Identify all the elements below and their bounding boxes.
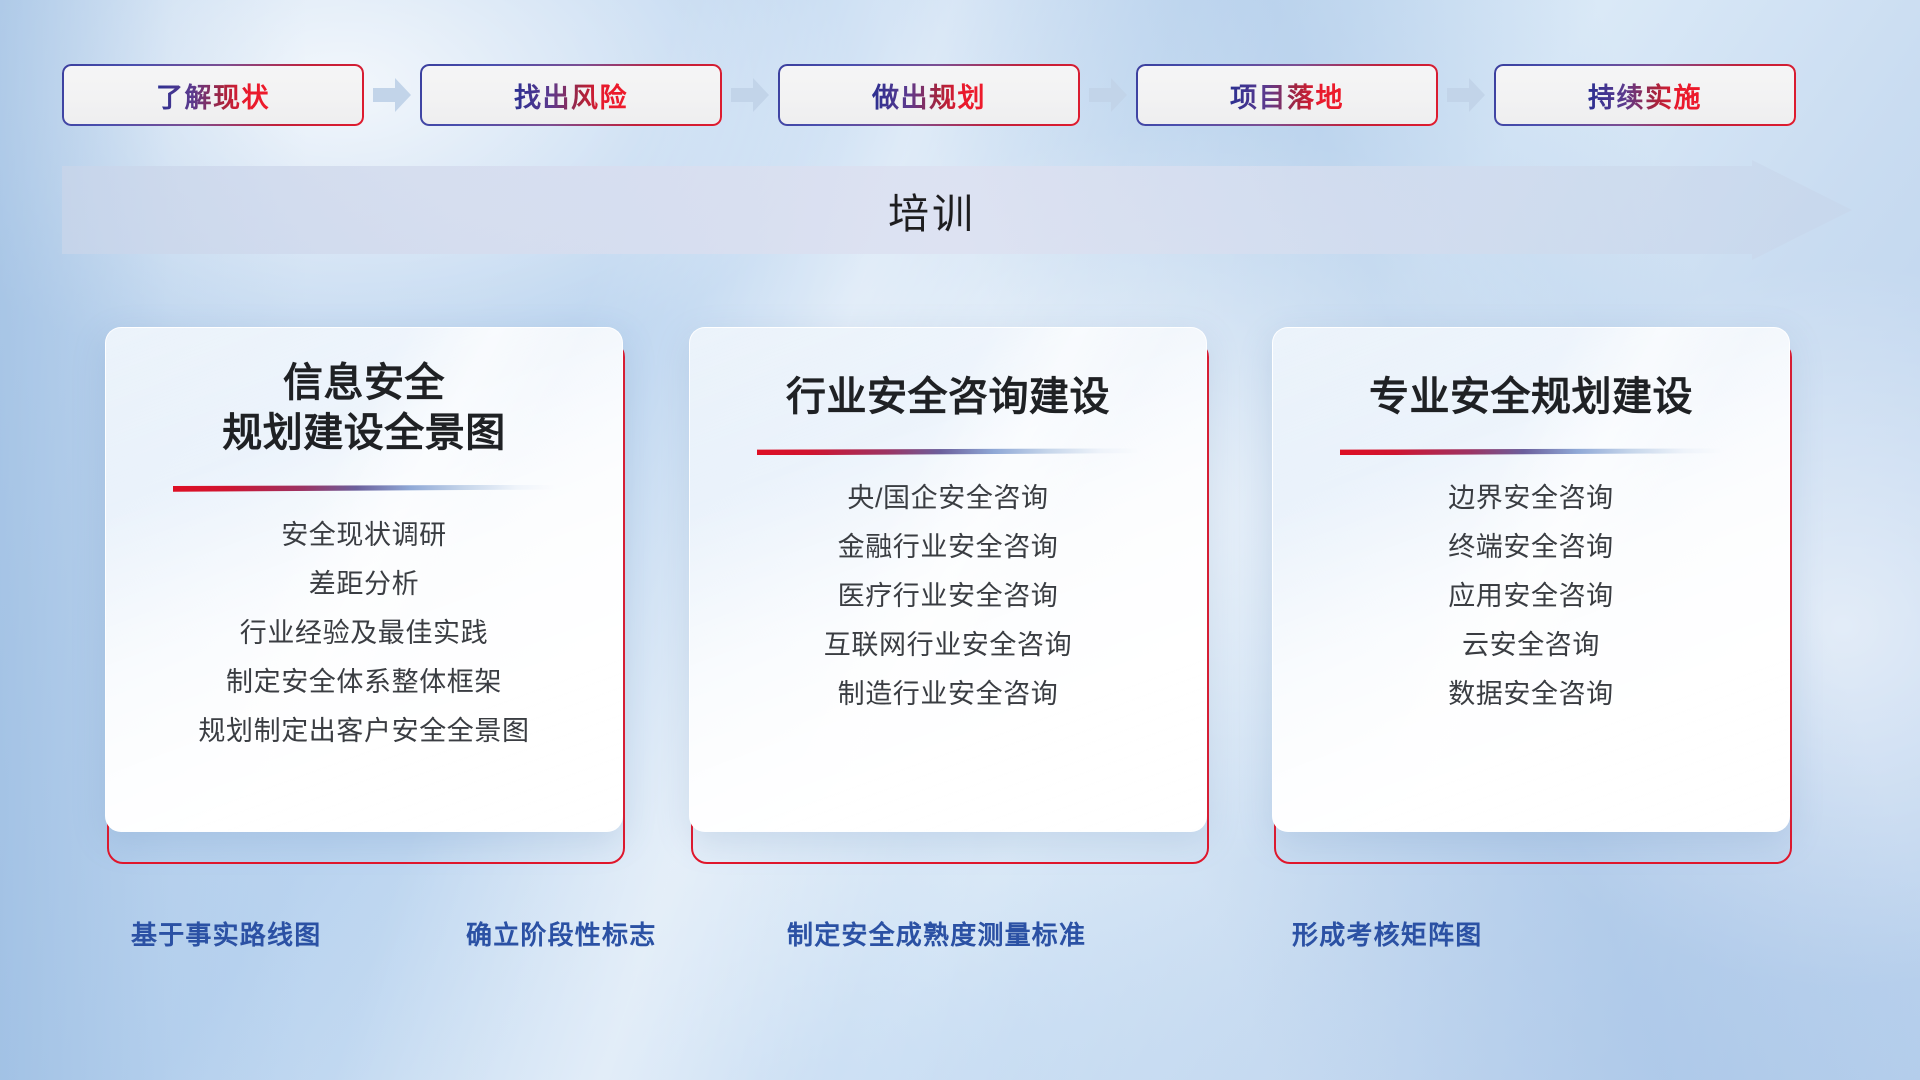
right-arrow-icon [1447, 78, 1485, 112]
list-item: 数据安全咨询 [1448, 681, 1614, 708]
footer-tag-4: 形成考核矩阵图 [1292, 915, 1482, 952]
feature-card-1[interactable]: 信息安全 规划建设全景图 安全现状调研 差距分析 行业经验及最佳实践 制定安全体… [105, 327, 635, 872]
step-box-5[interactable]: 持续实施 [1494, 64, 1796, 126]
list-item: 制造行业安全咨询 [838, 681, 1059, 708]
card-title-line: 信息安全 [134, 358, 594, 408]
list-item: 安全现状调研 [281, 522, 447, 549]
right-arrow-icon [1089, 78, 1127, 112]
card-item-list: 安全现状调研 差距分析 行业经验及最佳实践 制定安全体系整体框架 规划制定出客户… [106, 522, 622, 767]
process-step-row: 了解现状 找出风险 做出规划 项目落地 持续实施 [62, 63, 1862, 127]
slide-stage: 了解现状 找出风险 做出规划 项目落地 持续实施 [0, 0, 1920, 1080]
footer-tag-1: 基于事实路线图 [131, 915, 321, 952]
list-item: 差距分析 [309, 571, 419, 598]
step-label-3: 做出规划 [872, 76, 986, 115]
list-item: 云安全咨询 [1462, 632, 1600, 659]
card-title: 信息安全 规划建设全景图 [134, 358, 594, 459]
step-label-2: 找出风险 [514, 76, 628, 115]
list-item: 行业经验及最佳实践 [240, 620, 488, 647]
list-item: 边界安全咨询 [1448, 485, 1614, 512]
card-item-list: 边界安全咨询 终端安全咨询 应用安全咨询 云安全咨询 数据安全咨询 [1273, 485, 1789, 730]
step-box-3[interactable]: 做出规划 [778, 64, 1080, 126]
list-item: 互联网行业安全咨询 [824, 632, 1072, 659]
step-box-4[interactable]: 项目落地 [1136, 64, 1438, 126]
training-banner-label: 培训 [62, 160, 1802, 260]
card-title: 行业安全咨询建设 [718, 372, 1178, 422]
step-box-1[interactable]: 了解现状 [62, 64, 364, 126]
card-title-line: 规划建设全景图 [134, 408, 594, 458]
card-divider [757, 448, 1139, 455]
card-body[interactable]: 信息安全 规划建设全景图 安全现状调研 差距分析 行业经验及最佳实践 制定安全体… [105, 327, 623, 832]
step-box-2[interactable]: 找出风险 [420, 64, 722, 126]
list-item: 央/国企安全咨询 [847, 485, 1048, 512]
feature-card-3[interactable]: 专业安全规划建设 边界安全咨询 终端安全咨询 应用安全咨询 云安全咨询 数据安全… [1272, 327, 1802, 872]
step-label-5: 持续实施 [1588, 76, 1702, 115]
list-item: 规划制定出客户安全全景图 [198, 718, 529, 745]
footer-tag-2: 确立阶段性标志 [466, 915, 656, 952]
list-item: 终端安全咨询 [1448, 534, 1614, 561]
card-divider [1340, 448, 1722, 455]
list-item: 制定安全体系整体框架 [226, 669, 502, 696]
footer-tag-3: 制定安全成熟度测量标准 [787, 915, 1086, 952]
card-title-line: 专业安全规划建设 [1301, 372, 1761, 422]
card-body[interactable]: 专业安全规划建设 边界安全咨询 终端安全咨询 应用安全咨询 云安全咨询 数据安全… [1272, 327, 1790, 832]
card-title: 专业安全规划建设 [1301, 372, 1761, 422]
right-arrow-icon [731, 78, 769, 112]
card-item-list: 央/国企安全咨询 金融行业安全咨询 医疗行业安全咨询 互联网行业安全咨询 制造行… [690, 485, 1206, 730]
feature-card-row: 信息安全 规划建设全景图 安全现状调研 差距分析 行业经验及最佳实践 制定安全体… [0, 327, 1920, 872]
list-item: 金融行业安全咨询 [838, 534, 1059, 561]
card-title-line: 行业安全咨询建设 [718, 372, 1178, 422]
footer-tag-row: 基于事实路线图 确立阶段性标志 制定安全成熟度测量标准 形成考核矩阵图 [0, 915, 1920, 965]
list-item: 应用安全咨询 [1448, 583, 1614, 610]
card-divider [173, 485, 555, 492]
step-label-4: 项目落地 [1230, 76, 1344, 115]
right-arrow-icon [373, 78, 411, 112]
feature-card-2[interactable]: 行业安全咨询建设 央/国企安全咨询 金融行业安全咨询 医疗行业安全咨询 互联网行… [689, 327, 1219, 872]
training-banner: 培训 [62, 160, 1852, 260]
list-item: 医疗行业安全咨询 [838, 583, 1059, 610]
step-label-1: 了解现状 [156, 76, 270, 115]
card-body[interactable]: 行业安全咨询建设 央/国企安全咨询 金融行业安全咨询 医疗行业安全咨询 互联网行… [689, 327, 1207, 832]
